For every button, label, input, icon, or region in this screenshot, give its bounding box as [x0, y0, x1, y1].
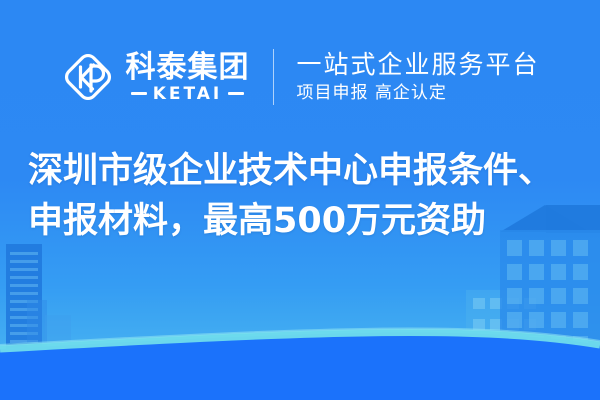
dash-left-icon	[131, 92, 147, 95]
banner-header: 科泰集团 KETAI 一站式企业服务平台 项目申报 高企认定	[0, 38, 600, 116]
brand-en-row: KETAI	[125, 85, 249, 103]
page-title: 深圳市级企业技术中心申报条件、申报材料，最高500万元资助	[28, 146, 572, 246]
promo-banner: 科泰集团 KETAI 一站式企业服务平台 项目申报 高企认定 深圳市级企业技术中…	[0, 0, 600, 400]
ketai-diamond-kp-logo-icon	[60, 49, 116, 105]
header-divider	[273, 49, 274, 105]
dash-right-icon	[228, 92, 244, 95]
brand-lockup[interactable]: 科泰集团 KETAI	[60, 49, 249, 105]
brand-text: 科泰集团 KETAI	[125, 52, 249, 103]
slogan-main: 一站式企业服务平台	[296, 51, 539, 79]
slogan-block: 一站式企业服务平台 项目申报 高企认定	[296, 51, 539, 103]
brand-name-en: KETAI	[153, 85, 223, 103]
slogan-sub: 项目申报 高企认定	[296, 83, 539, 103]
brand-name-cn: 科泰集团	[125, 52, 249, 84]
